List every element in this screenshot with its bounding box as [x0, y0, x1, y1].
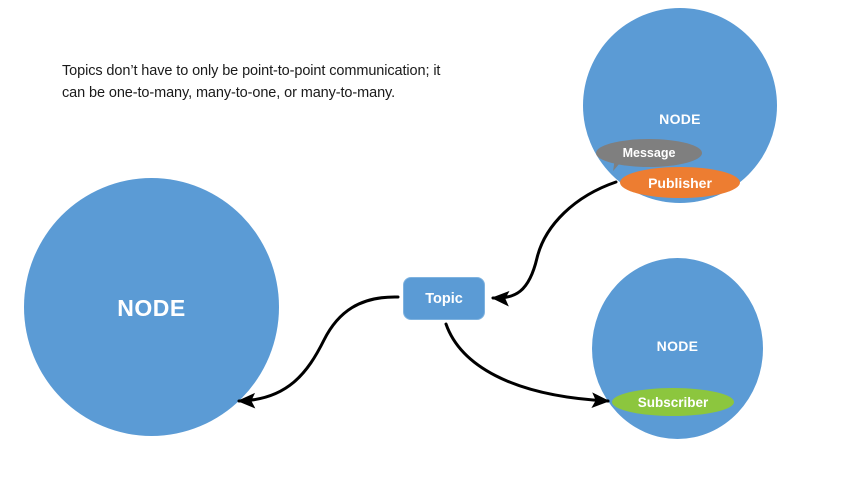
subscriber-badge-bottom-right[interactable]: Subscriber [612, 388, 734, 416]
node-bottom-right-label: NODE [657, 338, 699, 354]
node-top-right-label: NODE [659, 111, 701, 127]
diagram-canvas: Topics don’t have to only be point-to-po… [0, 0, 854, 480]
topic-box[interactable]: Topic [403, 277, 485, 320]
node-left[interactable]: NODE Subscriber [24, 178, 279, 436]
connector-publisher-to-topic [493, 182, 616, 298]
node-left-label: NODE [117, 295, 185, 322]
publisher-badge[interactable]: Publisher [620, 167, 740, 198]
message-badge[interactable]: Message [596, 139, 702, 167]
connector-topic-to-subscriber-bottom-right [446, 324, 608, 401]
caption-text: Topics don’t have to only be point-to-po… [62, 60, 482, 105]
